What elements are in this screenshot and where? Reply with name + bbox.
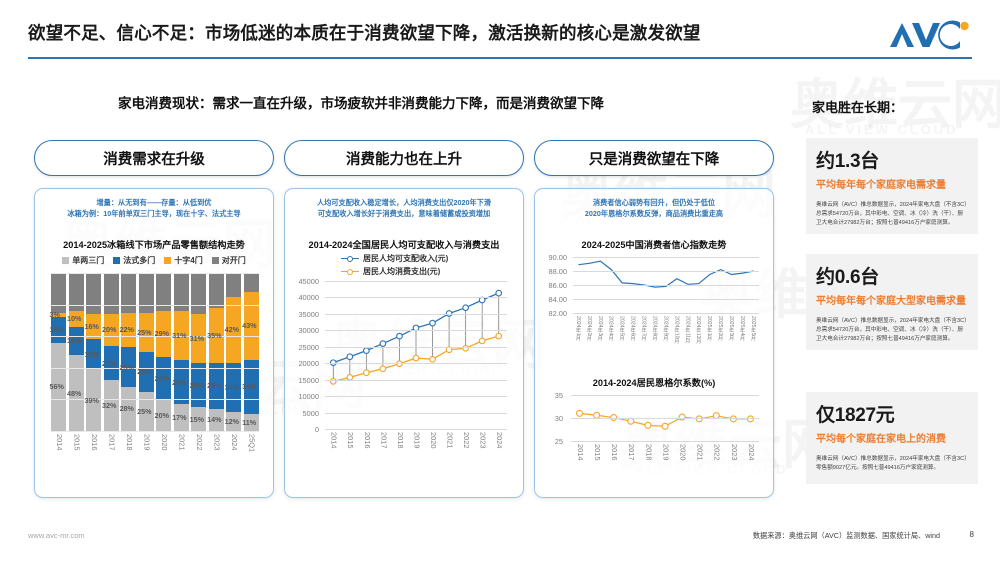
bar-data-label: 25% bbox=[137, 367, 151, 376]
bar-data-label: 43% bbox=[242, 321, 256, 330]
panel-pill-demand[interactable]: 消费需求在升级 bbox=[34, 140, 274, 176]
bar-data-label: 22% bbox=[102, 359, 116, 368]
xaxis-tick-label: 2019 bbox=[143, 434, 152, 450]
bar-data-label: 16% bbox=[85, 322, 99, 331]
gridline bbox=[573, 271, 759, 272]
page-title: 欲望不足、信心不足：市场低迷的本质在于消费欲望下降，激活换新的核心是激发欲望 bbox=[28, 20, 701, 45]
xaxis-tick-label: 2024年1月 bbox=[575, 316, 582, 341]
bar-data-label: 19% bbox=[85, 350, 99, 359]
yaxis-tick-label: 40000 bbox=[281, 293, 319, 302]
yaxis-tick-label: 35 bbox=[531, 391, 563, 400]
chart-title-confidence: 2024-2025中国消费者信心指数走势 bbox=[535, 237, 773, 251]
confidence-yaxis: 82.0084.0086.0088.0090.00 bbox=[535, 251, 571, 319]
confidence-xaxis: 2024年1月2024年2月2024年3月2024年4月2024年5月2024年… bbox=[573, 315, 759, 359]
legend-item: 居民人均消费支出(元) bbox=[341, 266, 448, 277]
xaxis-tick-label: 2024年5月 bbox=[619, 316, 626, 341]
xaxis-tick-label: 2024年7月 bbox=[641, 316, 648, 341]
gridline bbox=[325, 347, 507, 348]
legend-item: 单两三门 bbox=[62, 255, 104, 266]
bar-data-label: 48% bbox=[67, 389, 81, 398]
xaxis-tick-label: 2025年3月 bbox=[728, 316, 735, 341]
yaxis-tick-label: 45000 bbox=[281, 277, 319, 286]
stat-card-household-spend: 仅1827元 平均每个家庭在家电上的消费 奥维云网（AVC）推总数据显示，202… bbox=[806, 392, 978, 484]
bar-data-label: 25% bbox=[137, 407, 151, 416]
stat-value: 约1.3台 bbox=[816, 146, 968, 173]
stat-value: 仅1827元 bbox=[816, 400, 968, 427]
stacked-bar bbox=[191, 273, 206, 431]
gridline bbox=[325, 396, 507, 397]
chart-legend-income: 居民人均可支配收入(元) 居民人均消费支出(元) bbox=[341, 253, 448, 279]
xaxis-tick-label: 2020 bbox=[160, 434, 169, 450]
bar-data-label: 10% bbox=[67, 314, 81, 323]
stacked-bar bbox=[244, 273, 259, 431]
xaxis-tick-label: 2021 bbox=[696, 444, 705, 460]
xaxis-tick-label: 2025年4月 bbox=[739, 316, 746, 341]
bar-segment bbox=[226, 273, 241, 297]
xaxis-tick-label: 2024年10月 bbox=[673, 316, 680, 344]
yaxis-tick-label: 88.00 bbox=[531, 267, 567, 276]
bar-data-label: 22% bbox=[120, 325, 134, 334]
chart-title-structure: 2014-2025冰箱线下市场产品零售额结构走势 bbox=[35, 237, 273, 251]
panel-pill-label: 消费需求在升级 bbox=[103, 148, 205, 169]
bar-data-label: 31% bbox=[172, 331, 186, 340]
xaxis-tick-label: 2023 bbox=[479, 432, 488, 448]
xaxis-tick-label: 2024 bbox=[747, 444, 756, 460]
panel-pill-ability[interactable]: 消费能力也在上升 bbox=[284, 140, 524, 176]
bar-data-label: 56% bbox=[50, 382, 64, 391]
yaxis-tick-label: 30 bbox=[531, 414, 563, 423]
yaxis-tick-label: 30000 bbox=[281, 326, 319, 335]
stacked-bar bbox=[209, 273, 224, 431]
engel-xaxis: 2014201520162017201820192020202120222023… bbox=[571, 443, 759, 477]
xaxis-tick-label: 2018 bbox=[125, 434, 134, 450]
bar-data-label: 12% bbox=[225, 417, 239, 426]
stat-footnote: 奥维云网（AVC）推总数据显示，2024年家电大盘（不含3C）总需求54720万… bbox=[816, 317, 968, 344]
yaxis-tick-label: 35000 bbox=[281, 310, 319, 319]
chart-note: 人均可支配收入稳定增长，人均消费支出仅2020年下滑 可支配收入增长好于消费支出… bbox=[285, 197, 523, 219]
chart-note: 增量：从无到有——存量：从低到优 冰箱为例：10年前单双三门主导，现在十字、法式… bbox=[35, 197, 273, 219]
gridline bbox=[51, 431, 259, 432]
stat-label: 平均每个家庭在家电上的消费 bbox=[816, 430, 968, 445]
section-subtitle: 家电消费现状：需求一直在升级，市场疲软并非消费能力下降，而是消费欲望下降 bbox=[118, 92, 604, 112]
avc-logo bbox=[888, 20, 976, 50]
gridline bbox=[51, 305, 259, 306]
xaxis-tick-label: 2021 bbox=[178, 434, 187, 450]
bar-segment bbox=[139, 273, 154, 313]
xaxis-tick-label: 2016 bbox=[363, 432, 372, 448]
bar-data-label: 25% bbox=[137, 328, 151, 337]
chart-card-structure: 增量：从无到有——存量：从低到优 冰箱为例：10年前单双三门主导，现在十字、法式… bbox=[34, 188, 274, 498]
chart-note-line1: 消费者信心弱势有回升，但仍处于低位 bbox=[543, 197, 765, 208]
confidence-line-plot bbox=[573, 257, 759, 313]
gridline bbox=[325, 363, 507, 364]
income-yaxis: 0500010000150002000025000300003500040000… bbox=[285, 275, 323, 435]
bar-data-label: 20% bbox=[155, 411, 169, 420]
bar-data-label: 11% bbox=[242, 418, 256, 427]
gridline bbox=[325, 413, 507, 414]
chart-card-confidence: 消费者信心弱势有回升，但仍处于低位 2020年恩格尔系数反弹，商品消费比重走高 … bbox=[534, 188, 774, 498]
gridline bbox=[573, 257, 759, 258]
gridline bbox=[51, 399, 259, 400]
xaxis-tick-label: 2024年4月 bbox=[608, 316, 615, 341]
bar-data-label: 15% bbox=[190, 415, 204, 424]
yaxis-tick-label: 20000 bbox=[281, 359, 319, 368]
xaxis-tick-label: 2016 bbox=[90, 434, 99, 450]
bar-segment bbox=[51, 273, 66, 313]
xaxis-tick-label: 2014 bbox=[55, 434, 64, 450]
gridline bbox=[325, 314, 507, 315]
yaxis-tick-label: 10000 bbox=[281, 392, 319, 401]
bar-data-label: 42% bbox=[225, 325, 239, 334]
stacked-bar bbox=[174, 273, 189, 431]
stacked-bar-plot: 56%16%3%48%18%10%39%19%16%32%22%20%28%25… bbox=[51, 273, 259, 431]
xaxis-tick-label: 2024年11月 bbox=[684, 316, 691, 343]
yaxis-tick-label: 90.00 bbox=[531, 253, 567, 262]
yaxis-tick-label: 25000 bbox=[281, 343, 319, 352]
chart-note-line2: 可支配收入增长好于消费支出，意味着储蓄或投资增加 bbox=[293, 208, 515, 219]
footer-page-number: 8 bbox=[970, 530, 974, 539]
stat-value: 约0.6台 bbox=[816, 262, 968, 289]
bar-data-label: 14% bbox=[207, 415, 221, 424]
bar-data-label: 31% bbox=[190, 334, 204, 343]
xaxis-tick-label: 2025年5月 bbox=[750, 316, 757, 341]
stacked-bar bbox=[226, 273, 241, 431]
watermark-tagline: ALL VIEW CLOUD bbox=[805, 122, 959, 137]
xaxis-tick-label: 2017 bbox=[108, 434, 117, 450]
yaxis-tick-label: 15000 bbox=[281, 376, 319, 385]
bar-data-label: 18% bbox=[67, 336, 81, 345]
xaxis-tick-label: 2018 bbox=[396, 432, 405, 448]
header-divider bbox=[28, 57, 972, 59]
bar-data-label: 29% bbox=[155, 329, 169, 338]
bar-data-label: 28% bbox=[172, 378, 186, 387]
bar-data-label: 29% bbox=[207, 381, 221, 390]
bar-data-label: 17% bbox=[172, 413, 186, 422]
stat-footnote: 奥维云网（AVC）推总数据显示，2024年家电大盘（不含3C）总需求54720万… bbox=[816, 201, 968, 228]
chart-title-income: 2014-2024全国居民人均可支配收入与消费支出 bbox=[285, 237, 523, 251]
xaxis-tick-label: 2015 bbox=[346, 432, 355, 448]
gridline bbox=[571, 441, 759, 442]
xaxis-tick-label: 2016 bbox=[610, 444, 619, 460]
gridline bbox=[325, 297, 507, 298]
yaxis-tick-label: 82.00 bbox=[531, 309, 567, 318]
xaxis-tick-label: 2025年2月 bbox=[717, 316, 724, 341]
bar-data-label: 3% bbox=[50, 310, 60, 319]
bar-data-label: 31% bbox=[225, 383, 239, 392]
gridline bbox=[573, 299, 759, 300]
xaxis-tick-label: 2018 bbox=[644, 444, 653, 460]
chart-legend-structure: 单两三门 法式多门 十字4门 对开门 bbox=[35, 255, 273, 266]
xaxis-tick-label: 25Q1 bbox=[248, 434, 257, 452]
legend-item: 对开门 bbox=[212, 255, 246, 266]
xaxis-tick-label: 2024年2月 bbox=[586, 316, 593, 341]
xaxis-tick-label: 2019 bbox=[661, 444, 670, 460]
xaxis-tick-label: 2022 bbox=[713, 444, 722, 460]
chart-note-line1: 人均可支配收入稳定增长，人均消费支出仅2020年下滑 bbox=[293, 197, 515, 208]
yaxis-tick-label: 0 bbox=[281, 425, 319, 434]
stacked-bar bbox=[156, 273, 171, 431]
income-xaxis: 2014201520162017201820192020202120222023… bbox=[325, 431, 507, 465]
xaxis-tick-label: 2024年6月 bbox=[630, 316, 637, 341]
stat-footnote: 奥维云网（AVC）推总数据显示，2024年家电大盘（不含3C）零售额9027亿元… bbox=[816, 455, 968, 473]
legend-item: 居民人均可支配收入(元) bbox=[341, 253, 448, 264]
right-column-heading: 家电胜在长期： bbox=[812, 97, 903, 116]
chart-note-line1: 增量：从无到有——存量：从低到优 bbox=[43, 197, 265, 208]
xaxis-tick-label: 2021 bbox=[445, 432, 454, 448]
stacked-bar-xaxis: 2014201520162017201820192020202120222023… bbox=[51, 433, 259, 467]
xaxis-tick-label: 2024年12月 bbox=[695, 316, 702, 344]
xaxis-tick-label: 2019 bbox=[412, 432, 421, 448]
yaxis-tick-label: 5000 bbox=[281, 409, 319, 418]
chart-title-engel: 2014-2024居民恩格尔系数(%) bbox=[535, 375, 773, 389]
xaxis-tick-label: 2015 bbox=[73, 434, 82, 450]
stat-card-household-demand: 约1.3台 平均每年每个家庭家电需求量 奥维云网（AVC）推总数据显示，2024… bbox=[806, 138, 978, 234]
gridline bbox=[325, 380, 507, 381]
slide-header: 欲望不足、信心不足：市场低迷的本质在于消费欲望下降，激活换新的核心是激发欲望 bbox=[0, 0, 1000, 62]
xaxis-tick-label: 2014 bbox=[330, 432, 339, 448]
panel-pill-label: 消费能力也在上升 bbox=[346, 148, 462, 169]
yaxis-tick-label: 25 bbox=[531, 437, 563, 446]
chart-note-line2: 冰箱为例：10年前单双三门主导，现在十字、法式主导 bbox=[43, 208, 265, 219]
bar-data-label: 20% bbox=[102, 325, 116, 334]
bar-segment bbox=[121, 273, 136, 313]
gridline bbox=[325, 330, 507, 331]
panel-pill-label: 只是消费欲望在下降 bbox=[589, 148, 720, 169]
panel-pill-desire[interactable]: 只是消费欲望在下降 bbox=[534, 140, 774, 176]
stacked-bar bbox=[69, 273, 84, 431]
xaxis-tick-label: 2020 bbox=[429, 432, 438, 448]
bar-data-label: 39% bbox=[85, 396, 99, 405]
engel-yaxis: 253035 bbox=[535, 389, 567, 447]
bar-segment bbox=[244, 273, 259, 292]
stat-card-large-appliance-demand: 约0.6台 平均每年每个家庭大型家电需求量 奥维云网（AVC）推总数据显示，20… bbox=[806, 254, 978, 350]
gridline bbox=[325, 281, 507, 282]
slide-page: 奥维云网 ALL VIEW CLOUD 奥维云网 ALL VIEW CLOUD … bbox=[0, 0, 1000, 563]
gridline bbox=[51, 273, 259, 274]
xaxis-tick-label: 2017 bbox=[627, 444, 636, 460]
xaxis-tick-label: 2020 bbox=[678, 444, 687, 460]
bar-segment bbox=[104, 273, 119, 314]
bar-data-label: 28% bbox=[120, 404, 134, 413]
bar-data-label: 32% bbox=[102, 401, 116, 410]
xaxis-tick-label: 2017 bbox=[379, 432, 388, 448]
chart-note-line2: 2020年恩格尔系数反弹，商品消费比重走高 bbox=[543, 208, 765, 219]
footer-source: 数据来源：奥维云网（AVC）监测数据、国家统计局、wind bbox=[753, 531, 940, 541]
xaxis-tick-label: 2024 bbox=[230, 434, 239, 450]
gridline bbox=[571, 418, 759, 419]
line-series-svg bbox=[325, 281, 507, 429]
xaxis-tick-label: 2024年3月 bbox=[597, 316, 604, 341]
footer-website[interactable]: www.avc-mr.com bbox=[28, 531, 85, 540]
income-line-plot bbox=[325, 281, 507, 429]
gridline bbox=[571, 395, 759, 396]
xaxis-tick-label: 2015 bbox=[593, 444, 602, 460]
xaxis-tick-label: 2022 bbox=[462, 432, 471, 448]
gridline bbox=[325, 429, 507, 430]
chart-note: 消费者信心弱势有回升，但仍处于低位 2020年恩格尔系数反弹，商品消费比重走高 bbox=[535, 197, 773, 219]
bar-segment bbox=[86, 273, 101, 314]
xaxis-tick-label: 2023 bbox=[730, 444, 739, 460]
stat-label: 平均每年每个家庭家电需求量 bbox=[816, 176, 968, 191]
xaxis-tick-label: 2024年8月 bbox=[651, 316, 658, 341]
legend-item: 法式多门 bbox=[113, 255, 155, 266]
xaxis-tick-label: 2024 bbox=[495, 432, 504, 448]
bar-data-label: 35% bbox=[207, 331, 221, 340]
xaxis-tick-label: 2024年9月 bbox=[662, 316, 669, 341]
legend-item: 十字4门 bbox=[164, 255, 202, 266]
stat-label: 平均每年每个家庭大型家电需求量 bbox=[816, 292, 968, 307]
engel-line-plot bbox=[571, 395, 759, 441]
bar-data-label: 28% bbox=[190, 381, 204, 390]
xaxis-tick-label: 2014 bbox=[576, 444, 585, 460]
bar-segment bbox=[209, 273, 224, 308]
yaxis-tick-label: 86.00 bbox=[531, 281, 567, 290]
xaxis-tick-label: 2025年1月 bbox=[706, 316, 713, 341]
stacked-bar bbox=[51, 273, 66, 431]
yaxis-tick-label: 84.00 bbox=[531, 295, 567, 304]
gridline bbox=[51, 368, 259, 369]
bar-data-label: 34% bbox=[242, 382, 256, 391]
gridline bbox=[573, 285, 759, 286]
chart-card-income: 人均可支配收入稳定增长，人均消费支出仅2020年下滑 可支配收入增长好于消费支出… bbox=[284, 188, 524, 498]
bar-segment bbox=[191, 273, 206, 314]
bar-data-label: 27% bbox=[155, 374, 169, 383]
xaxis-tick-label: 2023 bbox=[213, 434, 222, 450]
xaxis-tick-label: 2022 bbox=[195, 434, 204, 450]
bar-data-label: 16% bbox=[50, 325, 64, 334]
bar-data-label: 25% bbox=[120, 363, 134, 372]
gridline bbox=[573, 313, 759, 314]
